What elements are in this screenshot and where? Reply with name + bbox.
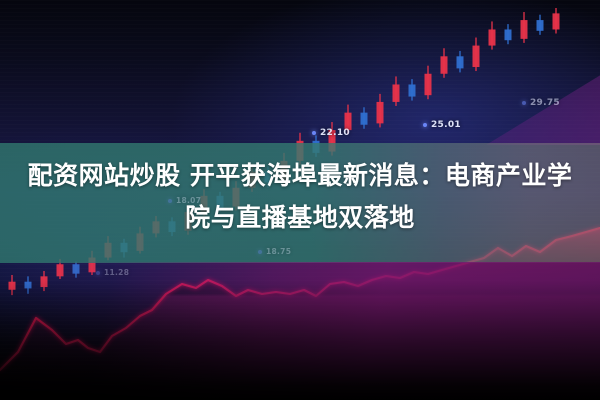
headline-line-2: 院与直播基地双落地 xyxy=(18,197,582,239)
price-label-text: 11.28 xyxy=(104,268,129,277)
price-label: 11.28 xyxy=(96,268,129,277)
headline-line-1: 配资网站炒股 开平获海埠最新消息：电商产业学 xyxy=(18,155,582,197)
bottom-fade-overlay xyxy=(0,280,600,400)
price-label-marker-icon xyxy=(312,131,316,135)
price-label-text: 25.01 xyxy=(431,120,461,130)
price-label-text: 18.75 xyxy=(266,247,291,256)
price-label: 18.75 xyxy=(258,247,291,256)
price-label: 22.10 xyxy=(312,128,350,138)
price-label-text: 22.10 xyxy=(320,128,350,138)
price-label-marker-icon xyxy=(258,250,262,254)
price-label: 29.75 xyxy=(522,98,560,108)
price-label: 25.01 xyxy=(423,120,461,130)
price-label-marker-icon xyxy=(423,123,427,127)
price-label-marker-icon xyxy=(96,271,100,275)
banner-image: 22.1025.0129.7518.0718.7511.28 配资网站炒股 开平… xyxy=(0,0,600,400)
price-label-marker-icon xyxy=(522,101,526,105)
price-label-text: 29.75 xyxy=(530,98,560,108)
page-title: 配资网站炒股 开平获海埠最新消息：电商产业学 院与直播基地双落地 xyxy=(0,155,600,239)
